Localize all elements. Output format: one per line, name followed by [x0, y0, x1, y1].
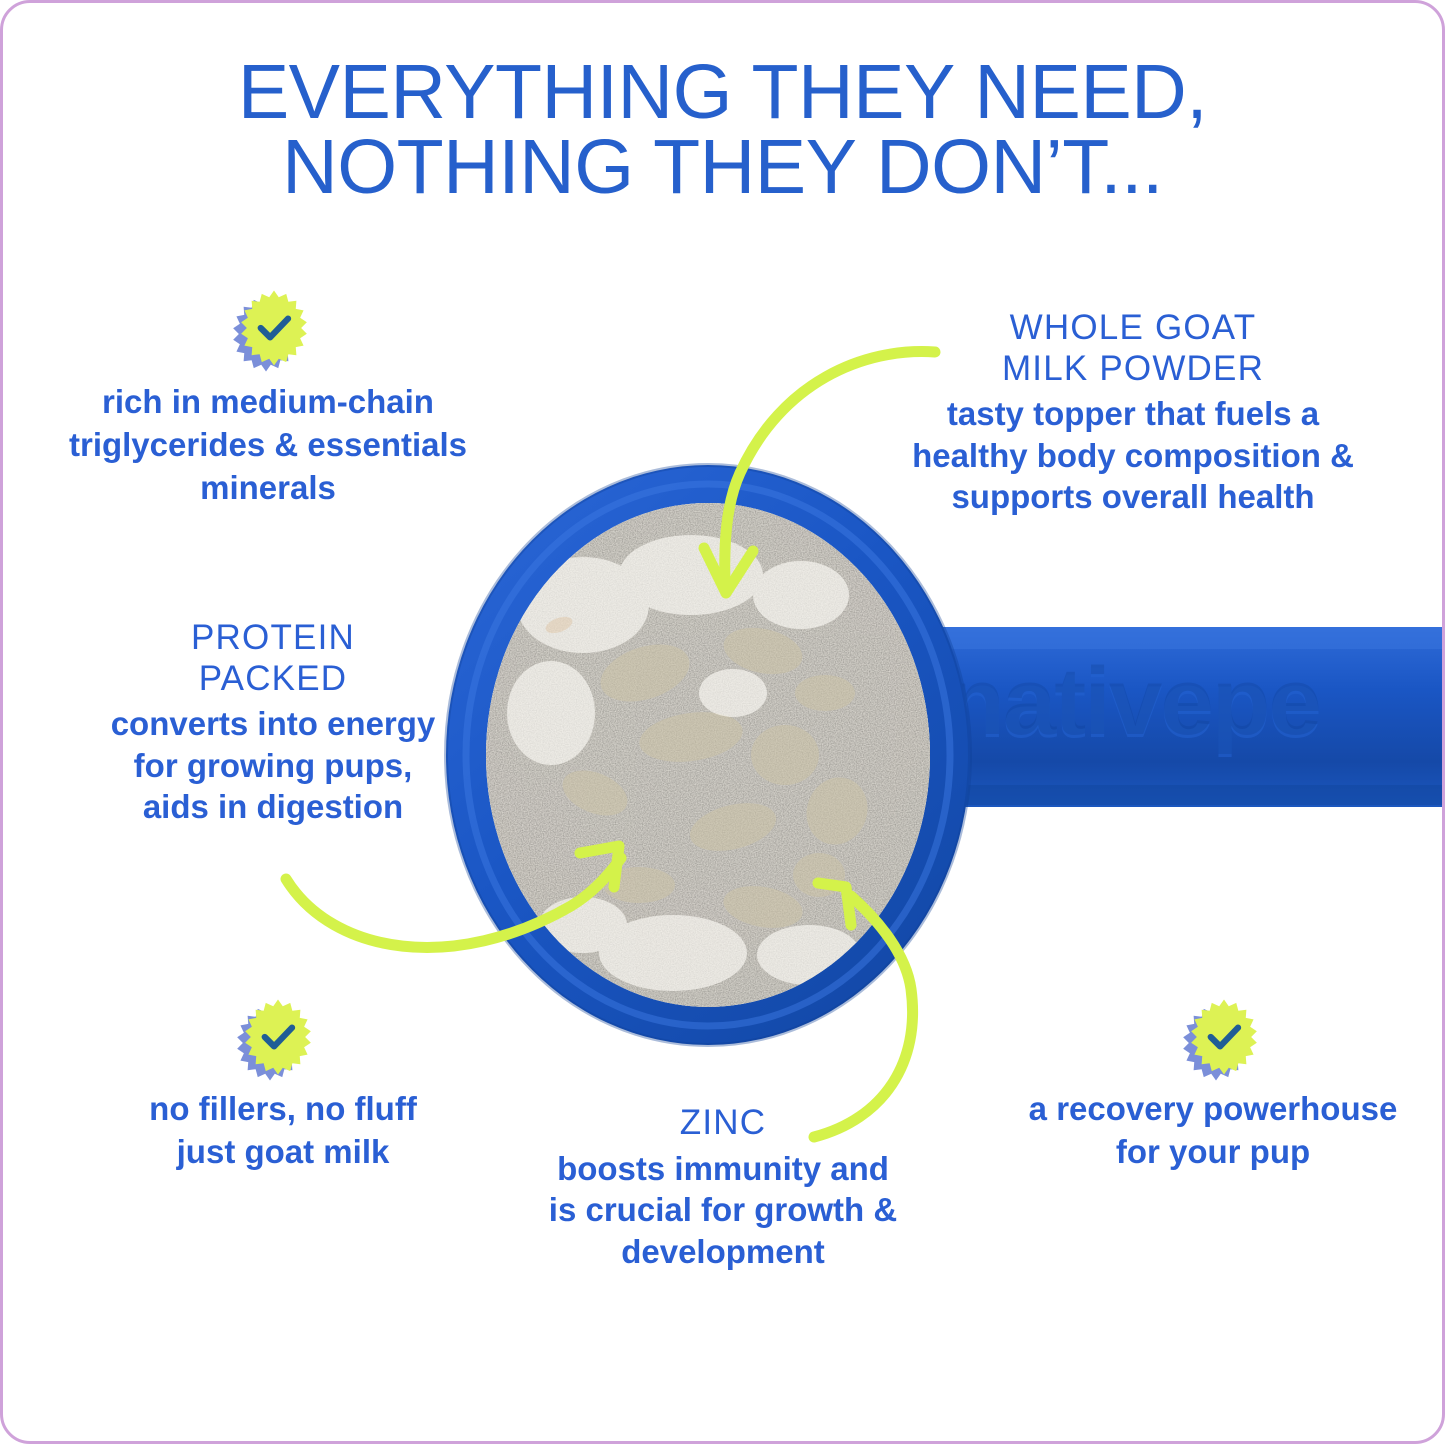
measuring-scoop-image: nativepe nativepe [433, 455, 1445, 1055]
whole-goat-milk-powder-callout: WHOLE GOAT MILK POWDER tasty topper that… [883, 308, 1383, 518]
check-badge-icon [235, 289, 313, 367]
protein-packed-body: converts into energy for growing pups, a… [63, 703, 483, 828]
no-fillers-badge [231, 998, 319, 1086]
zinc-heading: ZINC [498, 1103, 948, 1144]
title-line-2: NOTHING THEY DON’T... [3, 130, 1442, 205]
zinc-body: boosts immunity and is crucial for growt… [498, 1148, 948, 1273]
protein-packed-callout: PROTEIN PACKED converts into energy for … [63, 618, 483, 828]
check-badge-icon [1185, 998, 1263, 1076]
check-badge-icon [239, 998, 317, 1076]
whole-goat-milk-powder-body: tasty topper that fuels a healthy body c… [883, 393, 1383, 518]
recovery-badge [1177, 998, 1265, 1086]
mct-callout: rich in medium-chain triglycerides & ess… [33, 381, 503, 510]
page-title: EVERYTHING THEY NEED, NOTHING THEY DON’T… [3, 55, 1442, 206]
no-fillers-callout: no fillers, no fluff just goat milk [98, 1088, 468, 1174]
infographic-frame: EVERYTHING THEY NEED, NOTHING THEY DON’T… [0, 0, 1445, 1444]
mct-badge [227, 289, 315, 377]
whole-goat-milk-powder-heading: WHOLE GOAT MILK POWDER [883, 308, 1383, 389]
zinc-callout: ZINC boosts immunity and is crucial for … [498, 1103, 948, 1272]
recovery-text: a recovery powerhouse for your pup [1003, 1088, 1423, 1174]
svg-text:nativepe: nativepe [946, 648, 1319, 755]
mct-callout-text: rich in medium-chain triglycerides & ess… [33, 381, 503, 510]
recovery-callout: a recovery powerhouse for your pup [1003, 1088, 1423, 1174]
title-line-1: EVERYTHING THEY NEED, [3, 55, 1442, 130]
protein-packed-heading: PROTEIN PACKED [63, 618, 483, 699]
no-fillers-text: no fillers, no fluff just goat milk [98, 1088, 468, 1174]
